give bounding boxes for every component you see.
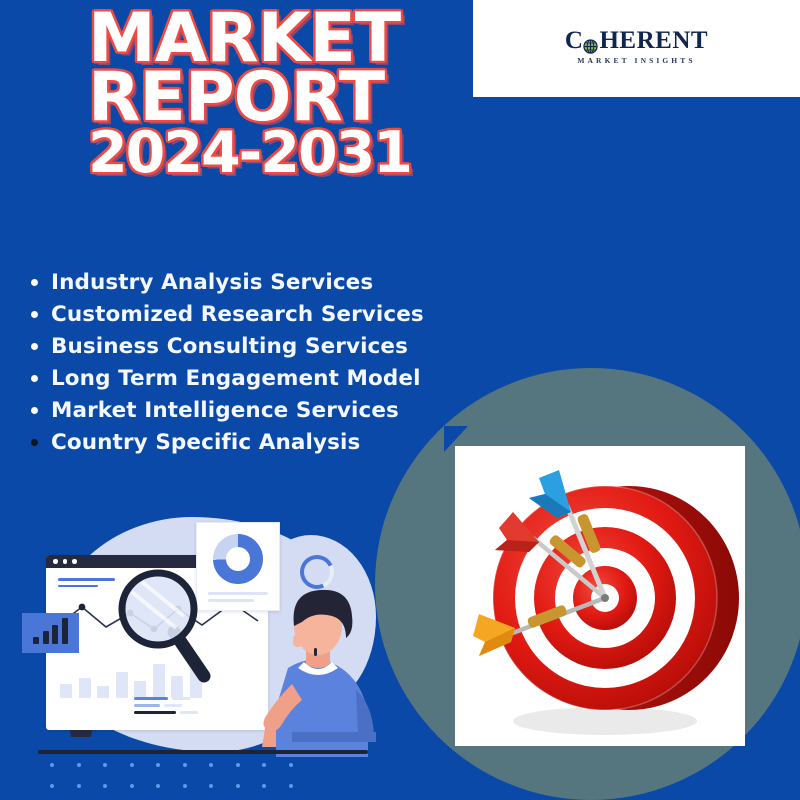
list-item-label: Customized Research Services: [51, 302, 424, 327]
list-item-label: Market Intelligence Services: [51, 398, 399, 423]
grid-dot: [236, 784, 240, 788]
bullet-dot-icon: [31, 311, 38, 318]
grid-dot: [289, 763, 293, 767]
list-item-label: Industry Analysis Services: [51, 270, 373, 295]
list-item: Customized Research Services: [26, 298, 456, 330]
grid-dot: [130, 784, 134, 788]
grid-dot: [130, 763, 134, 767]
dartboard-photo-card: [455, 446, 745, 746]
window-dot-icon: [53, 559, 58, 564]
dartboard-target-icon: [455, 446, 745, 746]
grid-dot: [289, 784, 293, 788]
grid-dot: [183, 784, 187, 788]
grid-dot: [77, 784, 81, 788]
globe-icon: [583, 34, 598, 49]
grid-dot: [103, 784, 107, 788]
browser-footer-lines: [134, 697, 198, 718]
magnifying-glass-icon: [116, 564, 226, 689]
brand-logo-box: C HERENT MARKET INSIGHTS: [473, 0, 800, 97]
window-dot-icon: [63, 559, 68, 564]
list-item: Country Specific Analysis: [26, 426, 456, 458]
grid-dot: [262, 763, 266, 767]
analyst-person-figure: [236, 572, 396, 757]
window-dot-icon: [72, 559, 77, 564]
bullet-dot-icon: [31, 343, 38, 350]
bar-chart-icon: [22, 613, 79, 653]
services-bullet-list: Industry Analysis Services Customized Re…: [26, 266, 456, 458]
bullet-dot-icon: [31, 407, 38, 414]
bullet-dot-icon: [31, 439, 38, 446]
grid-dot: [262, 784, 266, 788]
market-research-illustration: [8, 497, 400, 772]
list-item: Business Consulting Services: [26, 330, 456, 362]
grid-dot: [236, 763, 240, 767]
brand-tagline: MARKET INSIGHTS: [577, 56, 695, 65]
grid-dot: [183, 763, 187, 767]
grid-dot: [209, 784, 213, 788]
list-item-label: Business Consulting Services: [51, 334, 408, 359]
brand-name-rest: HERENT: [599, 28, 708, 53]
desk-surface-line: [38, 750, 368, 754]
list-item: Market Intelligence Services: [26, 394, 456, 426]
grid-dot: [156, 784, 160, 788]
bullet-dot-icon: [31, 375, 38, 382]
dot-grid-decoration: [50, 763, 315, 800]
poster-canvas: C HERENT MARKET INSIGHTS MARKET REPORT 2…: [0, 0, 800, 800]
grid-dot: [50, 763, 54, 767]
headline-block: MARKET REPORT 2024-2031: [88, 8, 508, 180]
list-item: Industry Analysis Services: [26, 266, 456, 298]
brand-wordmark: C HERENT: [565, 28, 708, 53]
list-item: Long Term Engagement Model: [26, 362, 456, 394]
browser-text-lines: [58, 578, 115, 591]
grid-dot: [156, 763, 160, 767]
list-item-label: Long Term Engagement Model: [51, 366, 421, 391]
headline-line-3: 2024-2031: [88, 127, 508, 179]
grid-dot: [50, 784, 54, 788]
grid-dot: [77, 763, 81, 767]
grid-dot: [103, 763, 107, 767]
list-item-label: Country Specific Analysis: [51, 430, 360, 455]
brand-initial: C: [565, 28, 584, 53]
bullet-dot-icon: [31, 279, 38, 286]
grid-dot: [209, 763, 213, 767]
